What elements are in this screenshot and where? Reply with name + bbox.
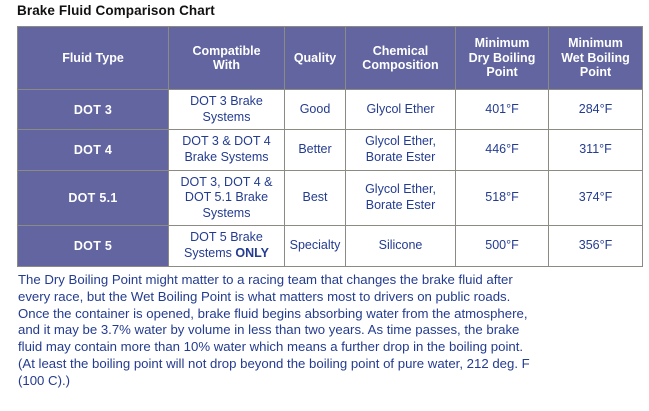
cell-fluid-type: DOT 5.1 bbox=[18, 170, 169, 226]
header-line: Wet Boiling bbox=[561, 51, 630, 65]
column-header-min-dry-boiling-point: Minimum Dry Boiling Point bbox=[456, 27, 549, 90]
table-row: DOT 5.1 DOT 3, DOT 4 & DOT 5.1 Brake Sys… bbox=[18, 170, 643, 226]
cell-chemical-composition: Glycol Ether bbox=[346, 90, 456, 130]
page-title: Brake Fluid Comparison Chart bbox=[17, 3, 215, 18]
cell-quality: Good bbox=[285, 90, 346, 130]
table-header-row: Fluid Type Compatible With Quality Chemi… bbox=[18, 27, 643, 90]
cell-fluid-type: DOT 4 bbox=[18, 130, 169, 170]
table-header: Fluid Type Compatible With Quality Chemi… bbox=[18, 27, 643, 90]
cell-min-dry-boiling-point: 446°F bbox=[456, 130, 549, 170]
note-line: every race, but the Wet Boiling Point is… bbox=[18, 289, 642, 306]
cell-min-wet-boiling-point: 356°F bbox=[549, 226, 643, 266]
note-line: fluid may contain more than 10% water wh… bbox=[18, 339, 642, 356]
cell-compatible-with: DOT 3 Brake Systems bbox=[169, 90, 285, 130]
cell-fluid-type: DOT 5 bbox=[18, 226, 169, 266]
cell-fluid-type: DOT 3 bbox=[18, 90, 169, 130]
header-line: Fluid Type bbox=[62, 51, 124, 65]
header-line: Point bbox=[580, 65, 611, 79]
cell-min-wet-boiling-point: 284°F bbox=[549, 90, 643, 130]
cell-quality: Better bbox=[285, 130, 346, 170]
header-line: Minimum bbox=[475, 36, 530, 50]
column-header-min-wet-boiling-point: Minimum Wet Boiling Point bbox=[549, 27, 643, 90]
note-line: (100 C).) bbox=[18, 373, 642, 390]
header-line: Minimum bbox=[568, 36, 623, 50]
brake-fluid-comparison-table: Fluid Type Compatible With Quality Chemi… bbox=[17, 26, 643, 267]
table-container: Fluid Type Compatible With Quality Chemi… bbox=[17, 26, 642, 267]
header-line: Dry Boiling bbox=[469, 51, 536, 65]
cell-quality: Best bbox=[285, 170, 346, 226]
column-header-fluid-type: Fluid Type bbox=[18, 27, 169, 90]
table-row: DOT 3 DOT 3 Brake Systems Good Glycol Et… bbox=[18, 90, 643, 130]
cell-min-dry-boiling-point: 500°F bbox=[456, 226, 549, 266]
explanatory-note: The Dry Boiling Point might matter to a … bbox=[18, 272, 642, 390]
cell-compatible-with: DOT 3 & DOT 4 Brake Systems bbox=[169, 130, 285, 170]
column-header-compatible-with: Compatible With bbox=[169, 27, 285, 90]
cell-compatible-with: DOT 3, DOT 4 & DOT 5.1 Brake Systems bbox=[169, 170, 285, 226]
cell-min-dry-boiling-point: 401°F bbox=[456, 90, 549, 130]
compatible-with-emphasis: ONLY bbox=[235, 246, 269, 260]
table-row: DOT 5 DOT 5 Brake Systems ONLY Specialty… bbox=[18, 226, 643, 266]
header-line: Compatible bbox=[192, 44, 260, 58]
cell-chemical-composition: Glycol Ether, Borate Ester bbox=[346, 130, 456, 170]
header-line: Chemical bbox=[373, 44, 429, 58]
header-line: Composition bbox=[362, 58, 438, 72]
note-line: The Dry Boiling Point might matter to a … bbox=[18, 272, 642, 289]
note-line: (At least the boiling point will not dro… bbox=[18, 356, 642, 373]
cell-chemical-composition: Silicone bbox=[346, 226, 456, 266]
cell-chemical-composition: Glycol Ether, Borate Ester bbox=[346, 170, 456, 226]
column-header-chemical-composition: Chemical Composition bbox=[346, 27, 456, 90]
header-line: Point bbox=[486, 65, 517, 79]
table-body: DOT 3 DOT 3 Brake Systems Good Glycol Et… bbox=[18, 90, 643, 267]
note-line: and it may be 3.7% water by volume in le… bbox=[18, 322, 642, 339]
note-line: Once the container is opened, brake flui… bbox=[18, 306, 642, 323]
column-header-quality: Quality bbox=[285, 27, 346, 90]
table-row: DOT 4 DOT 3 & DOT 4 Brake Systems Better… bbox=[18, 130, 643, 170]
header-line: Quality bbox=[294, 51, 336, 65]
cell-quality: Specialty bbox=[285, 226, 346, 266]
header-line: With bbox=[213, 58, 240, 72]
cell-compatible-with: DOT 5 Brake Systems ONLY bbox=[169, 226, 285, 266]
cell-min-wet-boiling-point: 311°F bbox=[549, 130, 643, 170]
page-root: Brake Fluid Comparison Chart Fluid Type … bbox=[0, 0, 649, 411]
cell-min-dry-boiling-point: 518°F bbox=[456, 170, 549, 226]
cell-min-wet-boiling-point: 374°F bbox=[549, 170, 643, 226]
